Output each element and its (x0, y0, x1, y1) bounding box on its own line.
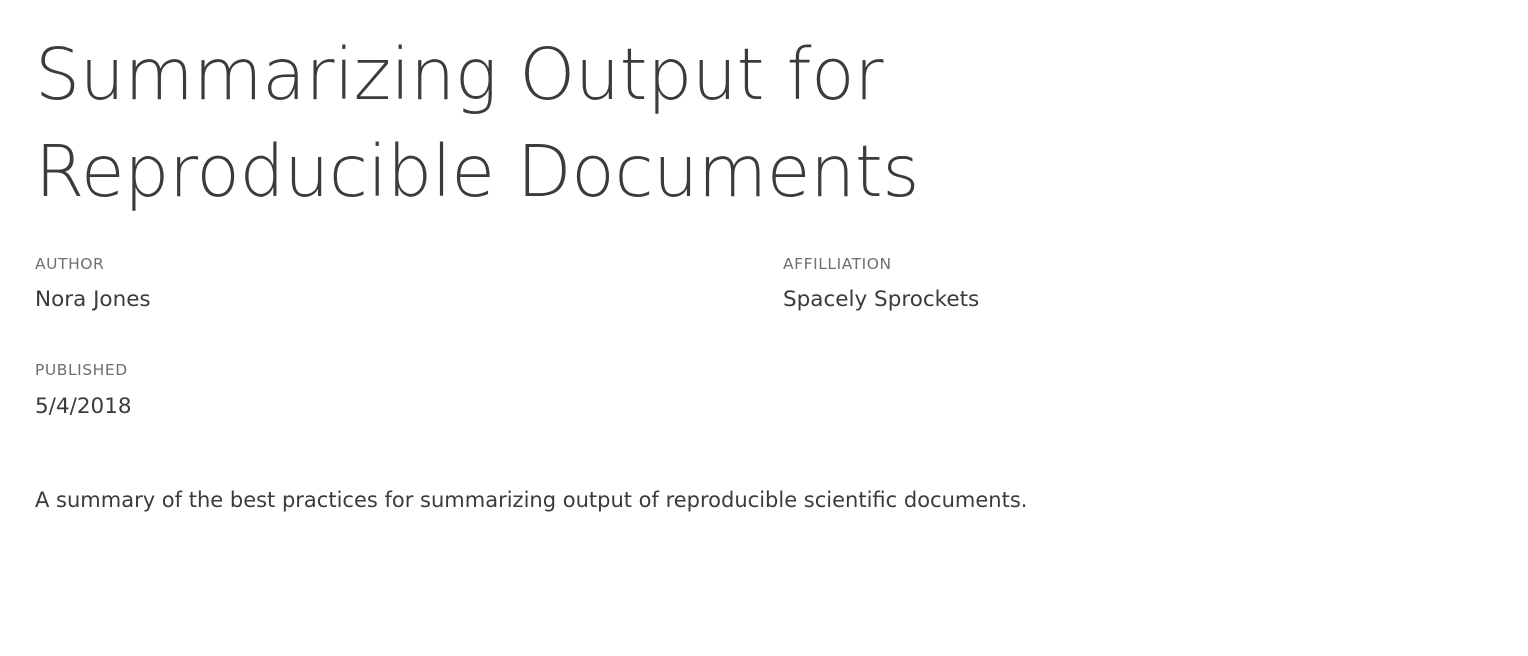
author-label: AUTHOR (35, 255, 783, 274)
author-block: AUTHOR Nora Jones (35, 255, 783, 314)
article-abstract: A summary of the best practices for summ… (0, 485, 1470, 515)
page-title: Summarizing Output for Reproducible Docu… (35, 0, 1325, 221)
published-block: PUBLISHED 5/4/2018 (35, 361, 783, 420)
affiliation-value: Spacely Sprockets (783, 287, 1493, 314)
article-header: Summarizing Output for Reproducible Docu… (0, 0, 1528, 420)
published-label: PUBLISHED (35, 361, 783, 380)
affiliation-block: AFFILLIATION Spacely Sprockets (783, 255, 1493, 314)
affiliation-label: AFFILLIATION (783, 255, 1493, 274)
published-value: 5/4/2018 (35, 394, 783, 421)
metadata-spacer (783, 361, 1493, 420)
article-metadata: AUTHOR Nora Jones AFFILLIATION Spacely S… (35, 255, 1493, 421)
author-value: Nora Jones (35, 287, 783, 314)
